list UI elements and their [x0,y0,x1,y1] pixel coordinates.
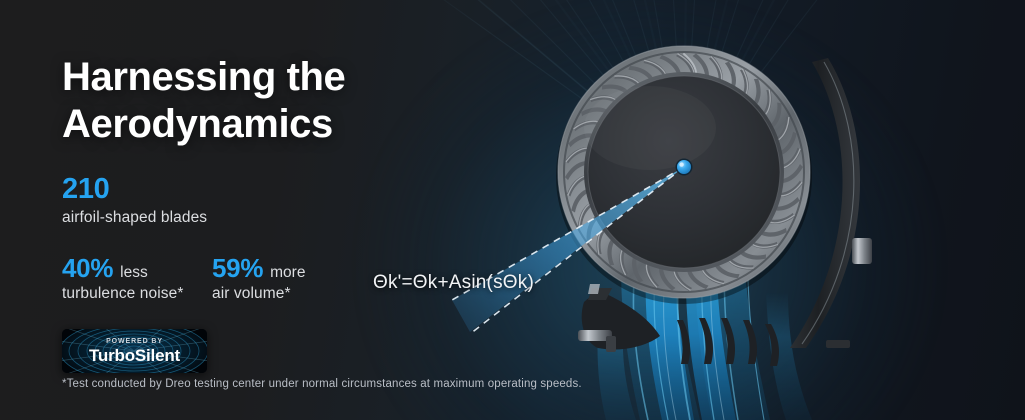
stat-secondary-row: 40% less turbulence noise* 59% more air … [62,255,422,303]
stat-primary-value: 210 [62,174,422,204]
page-title-line1: Harnessing the [62,55,345,99]
stat-air-volume: 59% more air volume* [212,255,305,303]
page-title-line2: Aerodynamics [62,101,422,148]
page-title: Harnessing the Aerodynamics [62,54,422,148]
hero-banner: Harnessing the Aerodynamics 210 airfoil-… [0,0,1025,420]
pivot-dot [677,160,691,174]
stat-primary: 210 airfoil-shaped blades [62,174,422,228]
stat-primary-label: airfoil-shaped blades [62,208,422,229]
stat-turbulence-qualifier: less [120,264,148,282]
copy-column: Harnessing the Aerodynamics 210 airfoil-… [62,54,422,373]
stat-air-volume-qualifier: more [270,264,305,282]
badge-name: TurboSilent [89,347,180,364]
stat-turbulence-noise: 40% less turbulence noise* [62,255,212,303]
turbosilent-badge: POWERED BY TurboSilent [62,329,207,373]
stat-air-volume-label: air volume* [212,285,305,303]
badge-kicker: POWERED BY [106,338,163,345]
stat-turbulence-label: turbulence noise* [62,285,212,303]
footnote: *Test conducted by Dreo testing center u… [62,378,582,390]
stat-turbulence-value: 40% [62,255,113,282]
formula-label: Θk'=Θk+Asin(sΘk) [373,272,534,294]
stat-air-volume-value: 59% [212,255,263,282]
